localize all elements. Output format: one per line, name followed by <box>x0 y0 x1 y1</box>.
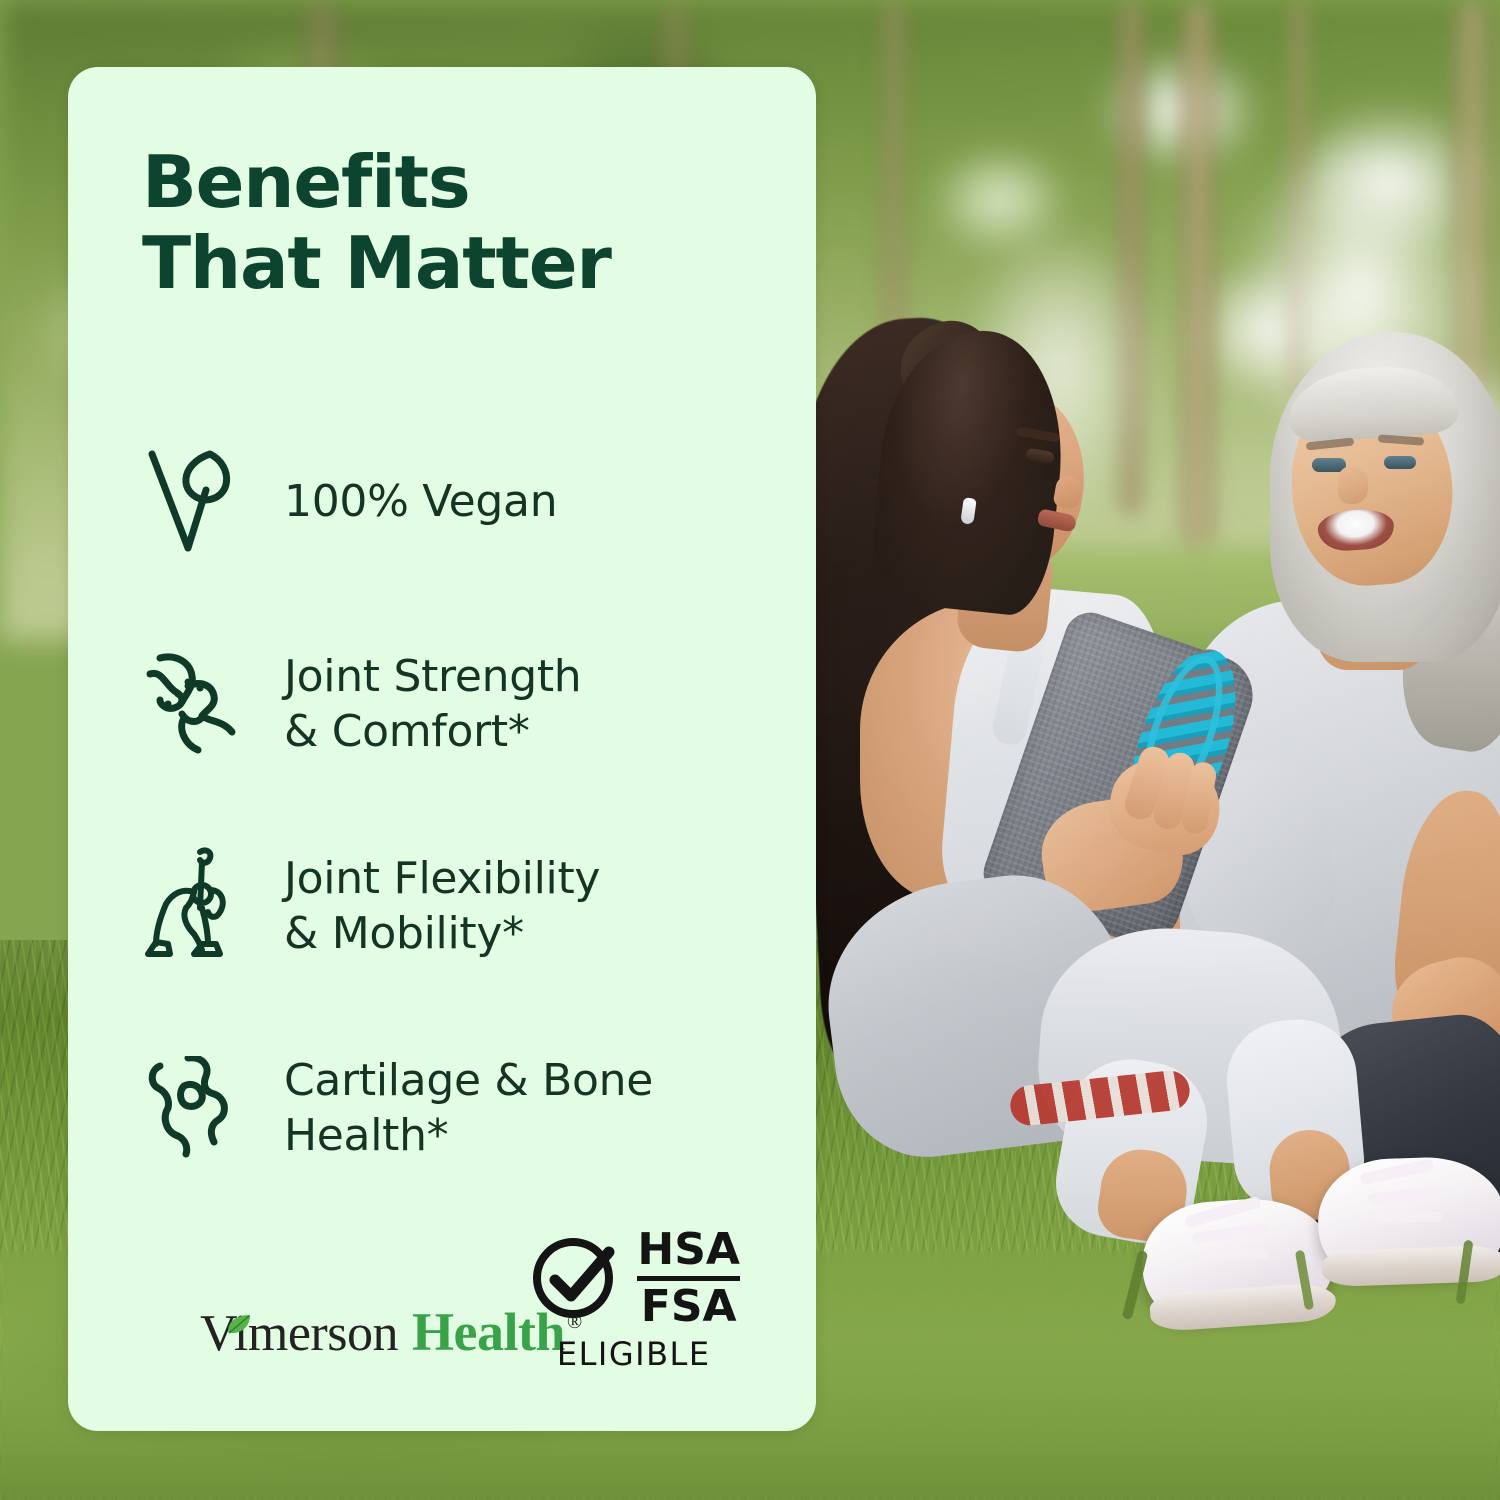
title-line-2: That Matter <box>142 223 782 304</box>
page-title: Benefits That Matter <box>142 142 782 305</box>
benefit-label-line-1: Cartilage & Bone <box>284 1055 653 1106</box>
benefit-item-joint-flexibility: Joint Flexibility & Mobility* <box>142 831 782 981</box>
benefit-item-cartilage-bone: Cartilage & Bone Health* <box>142 1033 782 1183</box>
hsa-line: HSA <box>637 1228 740 1272</box>
sneaker-sole <box>1321 1245 1500 1287</box>
hsa-fsa-badge: HSA FSA ELIGIBLE <box>527 1228 740 1373</box>
benefit-label-joint-flexibility: Joint Flexibility & Mobility* <box>284 851 600 962</box>
benefit-label-cartilage-bone: Cartilage & Bone Health* <box>284 1053 653 1164</box>
joint-bone-icon <box>142 645 246 763</box>
benefit-item-joint-strength: Joint Strength & Comfort* <box>142 629 782 779</box>
benefits-list: 100% Vegan <box>142 427 782 1183</box>
benefit-label-joint-strength: Joint Strength & Comfort* <box>284 649 581 760</box>
product-infographic: Benefits That Matter 100% Vegan <box>0 0 1500 1500</box>
brand-name-first: Vimerson <box>200 1304 398 1363</box>
benefit-label-line-1: Joint Flexibility <box>284 853 600 904</box>
vegan-leaf-icon <box>142 443 246 561</box>
shoe-lace <box>1374 1212 1442 1222</box>
benefit-label-line-2: & Comfort* <box>284 706 530 757</box>
yoga-pose-icon <box>142 847 246 965</box>
benefits-card: Benefits That Matter 100% Vegan <box>68 67 816 1431</box>
cartilage-bone-icon <box>142 1049 246 1167</box>
benefit-label-line-1: Joint Strength <box>284 651 581 702</box>
eligible-label: ELIGIBLE <box>557 1335 711 1373</box>
woman-right-eye <box>1384 456 1416 469</box>
card-footer: Vimerson Health ® <box>142 1213 770 1373</box>
benefit-label-line-2: Health* <box>284 1110 448 1161</box>
benefit-label-vegan: 100% Vegan <box>284 474 557 529</box>
brand-logo: Vimerson Health ® <box>200 1301 582 1363</box>
hsa-badge-row: HSA FSA <box>527 1228 740 1329</box>
woman-right-nose <box>1338 466 1368 504</box>
fsa-line: FSA <box>641 1285 737 1329</box>
title-line-1: Benefits <box>142 142 782 223</box>
tree-trunk <box>1180 0 1216 560</box>
leaf-icon <box>226 1290 252 1312</box>
circle-check-icon <box>527 1228 623 1329</box>
benefit-label-line-2: & Mobility* <box>284 908 524 959</box>
benefit-label-line-1: 100% Vegan <box>284 476 557 527</box>
benefit-item-vegan: 100% Vegan <box>142 427 782 577</box>
hsa-fsa-text: HSA FSA <box>637 1228 740 1329</box>
